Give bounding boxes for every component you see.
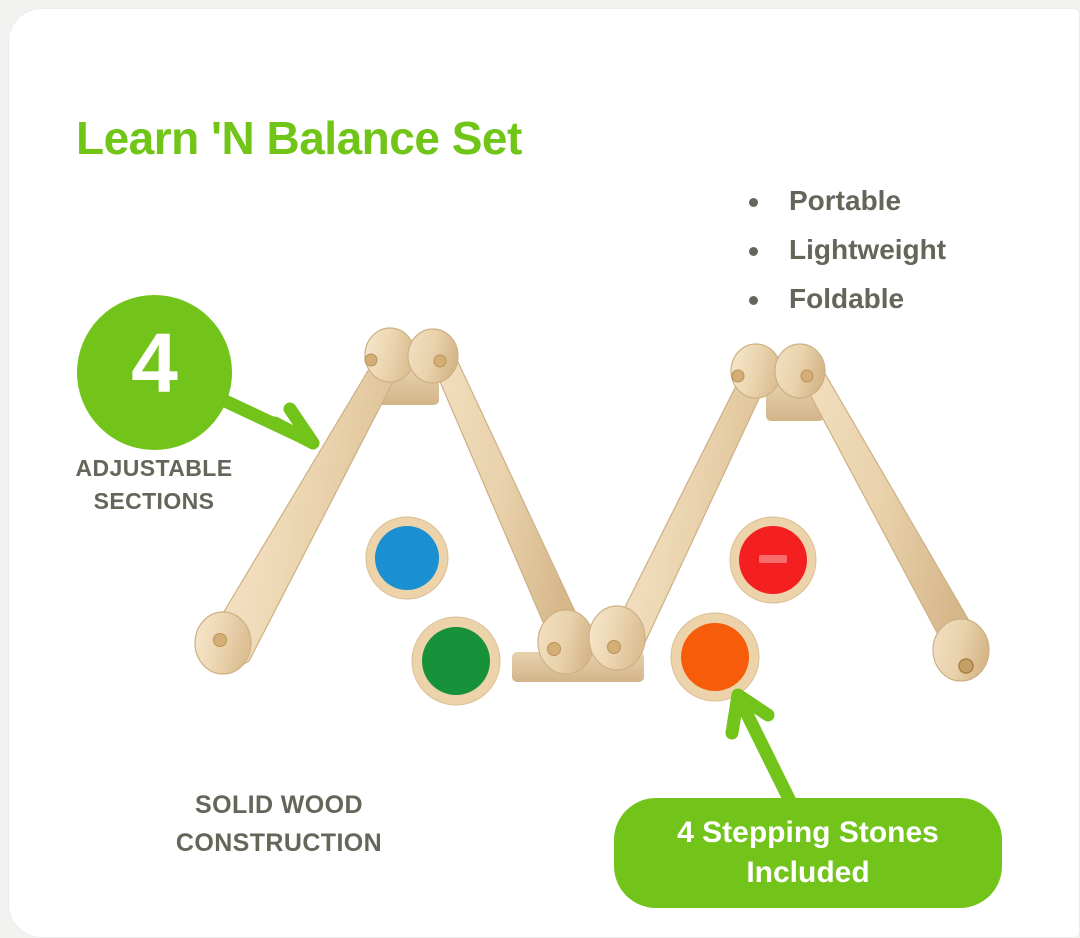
feature-item-lightweight: Lightweight — [744, 234, 946, 266]
badge-number: 4 — [77, 321, 232, 405]
bullet-dot-icon — [749, 198, 758, 207]
feature-label: Lightweight — [789, 234, 946, 265]
product-info-card: Learn 'N Balance Set Portable Lightweigh… — [8, 8, 1080, 938]
feature-label: Portable — [789, 185, 901, 216]
adjustable-sections-label: ADJUSTABLESECTIONS — [29, 452, 279, 519]
page-title: Learn 'N Balance Set — [76, 111, 522, 165]
feature-item-portable: Portable — [744, 185, 946, 217]
adjustable-sections-badge: 4 — [77, 295, 232, 450]
solid-wood-construction-label: SOLID WOODCONSTRUCTION — [119, 787, 439, 862]
arrow-to-stepping-stone — [732, 695, 790, 801]
feature-item-foldable: Foldable — [744, 283, 946, 315]
feature-label: Foldable — [789, 283, 904, 314]
bullet-dot-icon — [749, 296, 758, 305]
feature-list: Portable Lightweight Foldable — [744, 185, 946, 332]
stepping-stones-callout: 4 Stepping StonesIncluded — [614, 798, 1002, 908]
stepping-stones-callout-label: 4 Stepping StonesIncluded — [677, 813, 939, 892]
bullet-dot-icon — [749, 247, 758, 256]
